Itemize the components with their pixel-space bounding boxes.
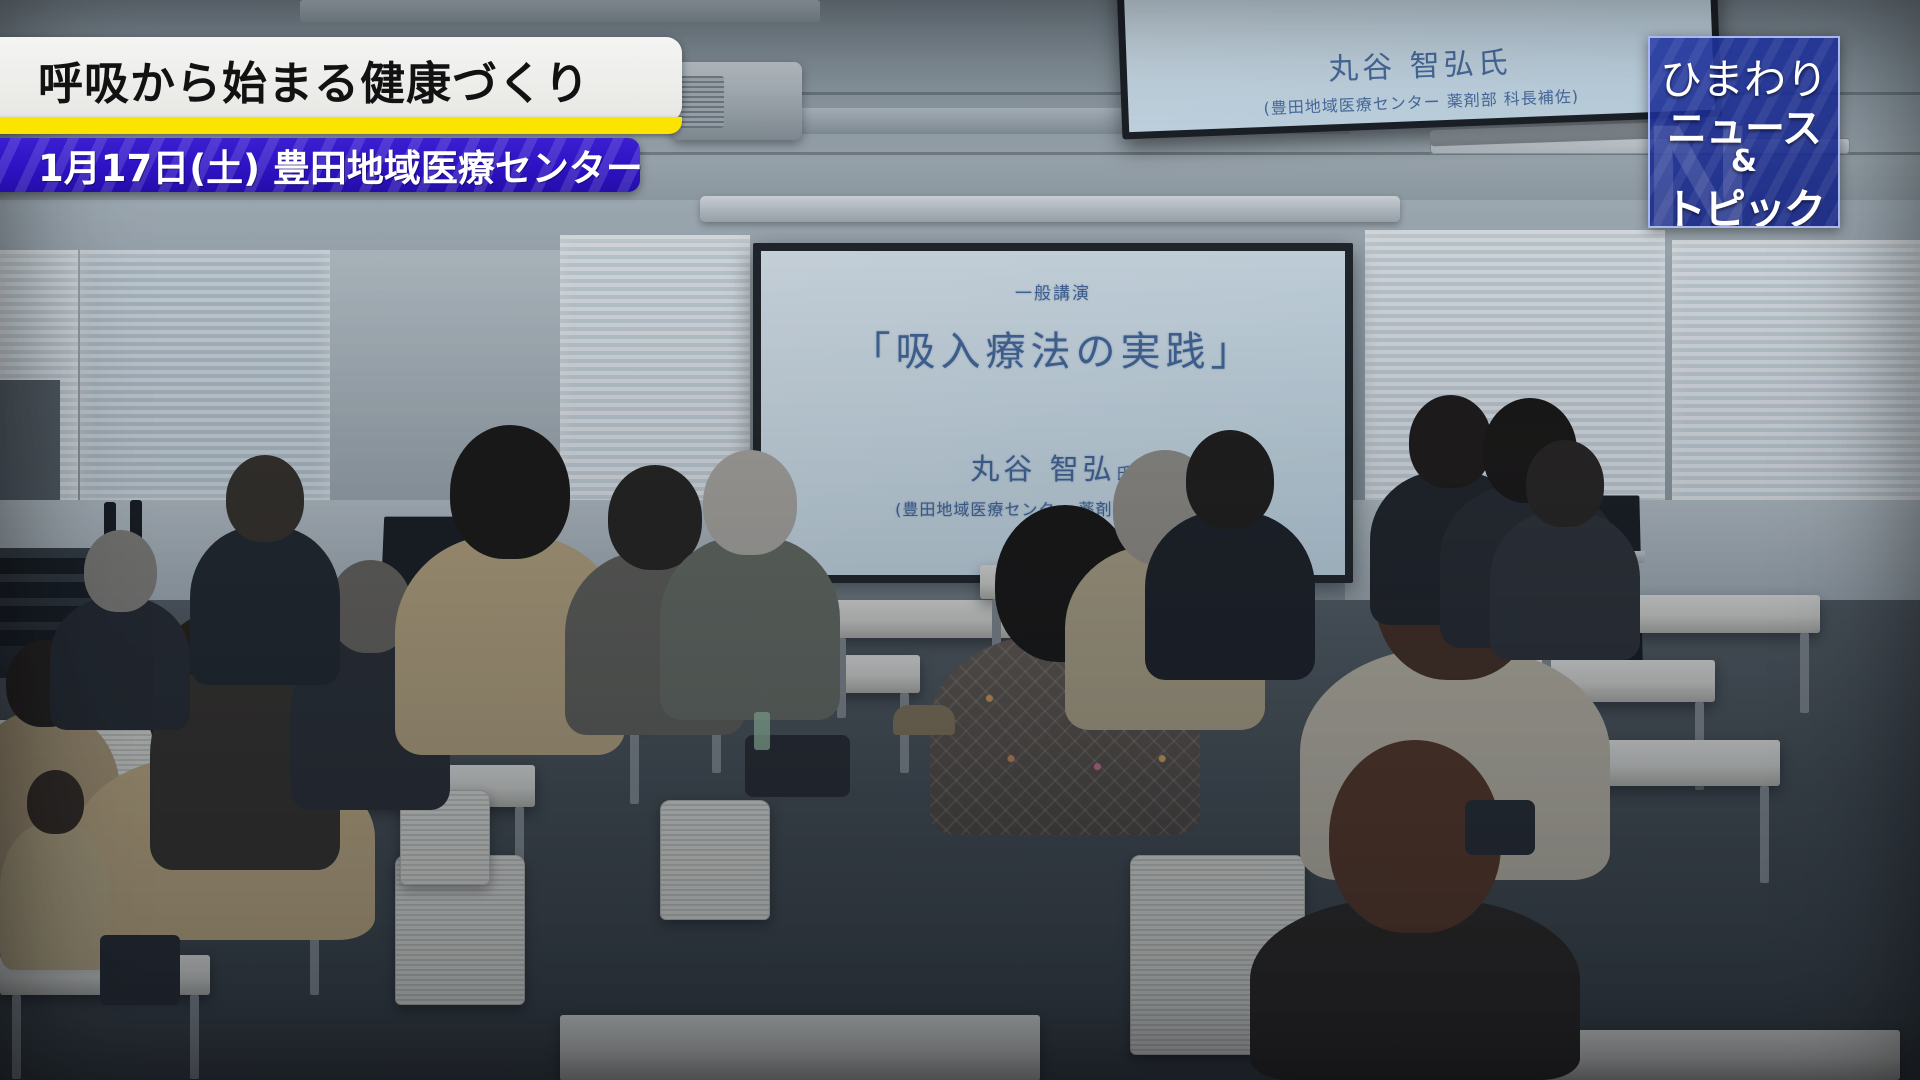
audience-member	[50, 530, 190, 730]
audience-head	[703, 450, 797, 555]
audience-torso	[50, 597, 190, 730]
title-banner-headline: 呼吸から始まる健康づくり	[38, 47, 590, 112]
audience-head	[450, 425, 570, 559]
subtitle-banner: 1月17日(土) 豊田地域医療センター	[0, 138, 640, 192]
logo-line-3: &	[1650, 144, 1838, 179]
desk-leg	[1760, 786, 1769, 883]
audience-torso	[0, 822, 110, 970]
program-logo: N ひまわり ニュース & トピックス	[1648, 36, 1840, 228]
shoulder-bag	[1465, 800, 1535, 855]
projection-screen-roller	[700, 196, 1400, 222]
cap	[893, 705, 955, 735]
title-banner-accent-bar	[0, 117, 682, 134]
audience-torso	[660, 536, 840, 720]
desk-leg	[1800, 633, 1809, 713]
subtitle-banner-text: 1月17日(土) 豊田地域医療センター	[38, 138, 643, 192]
audience-torso	[1145, 511, 1315, 680]
audience-torso	[190, 526, 340, 685]
ceiling-beam	[300, 0, 820, 22]
desk-leg	[190, 995, 199, 1079]
handbag	[100, 935, 180, 1005]
audience-member	[1490, 440, 1640, 660]
audience-member	[1145, 430, 1315, 680]
audience-torso	[1490, 511, 1640, 660]
chair	[660, 800, 770, 920]
ceiling-monitor-surface: 丸谷 智弘氏 (豊田地域医療センター 薬剤部 科長補佐)	[1121, 0, 1715, 132]
audience-member	[190, 455, 340, 685]
title-banner: 呼吸から始まる健康づくり	[0, 37, 682, 122]
desk-leg	[12, 995, 21, 1079]
ceiling-projector	[672, 62, 802, 140]
ceiling-monitor: 丸谷 智弘氏 (豊田地域医療センター 薬剤部 科長補佐)	[1114, 0, 1722, 139]
wall-panel-dark	[0, 380, 60, 500]
audience-member	[660, 450, 840, 720]
audience-member	[0, 770, 110, 970]
slide-label: 一般講演	[761, 279, 1345, 304]
projector-vent	[680, 76, 724, 128]
desk	[560, 1015, 1040, 1080]
broadcast-frame: 一般講演 「吸入療法の実践」 丸谷 智弘氏 (豊田地域医療センター 薬剤部 科長…	[0, 0, 1920, 1080]
logo-line-4: トピックス	[1650, 176, 1838, 228]
audience-head	[27, 770, 84, 834]
slide-title: 「吸入療法の実践」	[761, 319, 1345, 377]
audience-head	[226, 455, 304, 542]
audience-head	[1526, 440, 1604, 527]
water-bottle	[754, 712, 770, 750]
audience-head	[84, 530, 157, 612]
audience-head	[1186, 430, 1274, 529]
window	[1672, 240, 1920, 530]
audience-member	[1250, 740, 1580, 1080]
